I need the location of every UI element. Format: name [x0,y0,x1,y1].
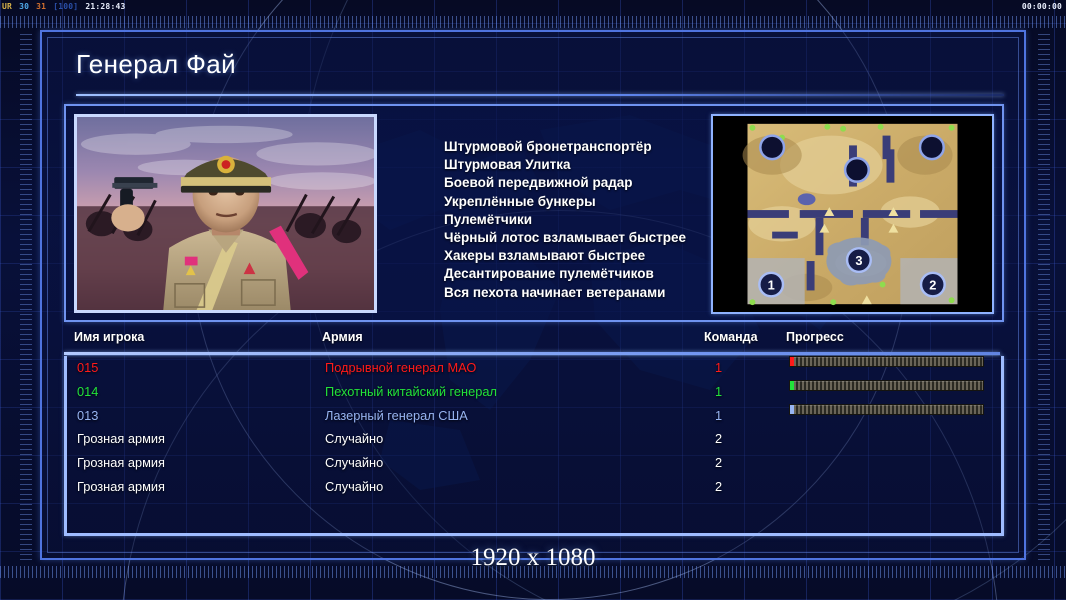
top-status-bar: UR 30 31 [100] 21:28:43 00:00:00 [0,0,1066,14]
header-progress: Прогресс [786,330,844,344]
row-progress-bar [789,404,984,415]
status-bracket: [100] [53,2,78,11]
page-title: Генерал Фай [62,49,236,80]
ruler-left [20,30,32,560]
ability-item: Десантирование пулемётчиков [444,265,744,283]
row-player-name: Грозная армия [77,475,165,499]
row-army: Подрывной генерал МАО [325,356,476,380]
row-army: Случайно [325,475,383,499]
ability-item: Чёрный лотос взламывает быстрее [444,229,744,247]
row-team: 2 [715,427,722,451]
status-num-1: 30 [19,2,29,11]
status-right-clock: 00:00:00 [1022,0,1062,14]
row-team: 2 [715,451,722,475]
row-player-name: 015 [77,356,98,380]
ability-item: Пулемётчики [444,211,744,229]
minimap-spawn-2: 2 [929,277,936,292]
progress-cap [790,357,794,366]
minimap-spawn-1: 1 [768,277,775,292]
progress-cap [790,381,794,390]
ability-item: Укреплённые бункеры [444,193,744,211]
player-table-header: Имя игрока Армия Команда Прогресс [64,330,1004,352]
row-progress-bar [789,380,984,391]
row-player-name: Грозная армия [77,451,165,475]
ability-item: Хакеры взламывают быстрее [444,247,744,265]
game-screen: UR 30 31 [100] 21:28:43 00:00:00 Генерал… [0,0,1066,600]
table-row[interactable]: Грозная армияСлучайно2 [67,451,1001,475]
ruler-top [0,16,1066,28]
ability-item: Вся пехота начинает ветеранами [444,284,744,302]
ability-item: Штурмовая Улитка [444,156,744,174]
status-left-group: UR 30 31 [100] 21:28:43 [2,0,128,14]
table-row[interactable]: 014Пехотный китайский генерал1 [67,380,1001,404]
table-row[interactable]: 015Подрывной генерал МАО1 [67,356,1001,380]
status-num-2: 31 [36,2,46,11]
row-army: Случайно [325,427,383,451]
row-team: 1 [715,356,722,380]
table-row[interactable]: Грозная армияСлучайно2 [67,427,1001,451]
row-army: Лазерный генерал США [325,404,468,428]
row-player-name: Грозная армия [77,427,165,451]
player-table-body: 015Подрывной генерал МАО1014Пехотный кит… [64,356,1004,536]
table-header-divider [64,352,1000,355]
ruler-right [1038,30,1050,560]
status-tag: UR [2,2,12,11]
minimap-spawn-3: 3 [855,253,862,268]
row-team: 2 [715,475,722,499]
abilities-list: Штурмовой бронетранспортёрШтурмовая Улит… [444,138,744,302]
table-row[interactable]: 013Лазерный генерал США1 [67,404,1001,428]
table-row[interactable]: Грозная армияСлучайно2 [67,475,1001,499]
row-team: 1 [715,404,722,428]
row-player-name: 014 [77,380,98,404]
row-army: Пехотный китайский генерал [325,380,497,404]
row-progress-bar [789,356,984,367]
general-fai-portrait [74,114,377,313]
main-frame: Генерал Фай [40,30,1026,560]
progress-cap [790,405,794,414]
resolution-watermark: 1920 x 1080 [0,544,1066,572]
row-player-name: 013 [77,404,98,428]
minimap-preview: 1 2 3 [711,114,994,314]
general-info-panel: Штурмовой бронетранспортёрШтурмовая Улит… [64,104,1004,322]
row-team: 1 [715,380,722,404]
row-army: Случайно [325,451,383,475]
title-divider [76,94,1004,96]
header-army: Армия [322,330,363,344]
ability-item: Боевой передвижной радар [444,174,744,192]
status-clock: 21:28:43 [85,2,125,11]
title-band: Генерал Фай [62,38,1004,90]
header-team: Команда [704,330,758,344]
header-player-name: Имя игрока [74,330,144,344]
ability-item: Штурмовой бронетранспортёр [444,138,744,156]
